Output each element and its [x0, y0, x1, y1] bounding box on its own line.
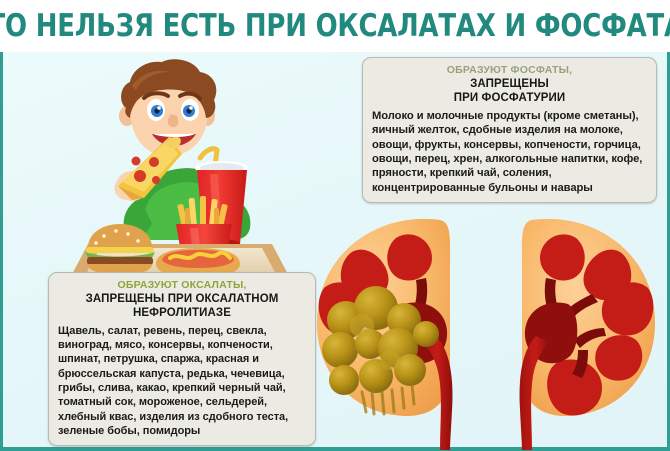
oxalate-info-box: ОБРАЗУЮТ ОКСАЛАТЫ, ЗАПРЕЩЕНЫ ПРИ ОКСАЛАТ…: [48, 272, 316, 446]
phosphate-food-list: Молоко и молочные продукты (кроме сметан…: [372, 109, 647, 196]
oxalate-eyebrow: ОБРАЗУЮТ ОКСАЛАТЫ,: [58, 279, 306, 292]
phosphate-info-box: ОБРАЗУЮТ ФОСФАТЫ, ЗАПРЕЩЕНЫ ПРИ ФОСФАТУР…: [362, 57, 657, 203]
page-title: ЧТО НЕЛЬЗЯ ЕСТЬ ПРИ ОКСАЛАТАХ И ФОСФАТАХ: [0, 11, 670, 42]
infographic-poster: ОБРАЗУЮТ ФОСФАТЫ, ЗАПРЕЩЕНЫ ПРИ ФОСФАТУР…: [0, 0, 670, 451]
phosphate-headline-line2: ПРИ ФОСФАТУРИИ: [454, 92, 566, 104]
oxalate-headline-line1: ЗАПРЕЩЕНЫ ПРИ ОКСАЛАТНОМ: [86, 293, 279, 305]
right-kidney-normal: [520, 219, 656, 450]
poster-title-bar: ЧТО НЕЛЬЗЯ ЕСТЬ ПРИ ОКСАЛАТАХ И ФОСФАТАХ: [0, 0, 670, 52]
phosphate-eyebrow: ОБРАЗУЮТ ФОСФАТЫ,: [372, 64, 647, 77]
oxalate-headline: ЗАПРЕЩЕНЫ ПРИ ОКСАЛАТНОМ НЕФРОЛИТИАЗЕ: [58, 293, 306, 321]
kidneys-illustration: [300, 208, 670, 451]
phosphate-headline-line1: ЗАПРЕЩЕНЫ: [470, 78, 549, 90]
oxalate-food-list: Щавель, салат, ревень, перец, свекла, ви…: [58, 324, 306, 438]
phosphate-headline: ЗАПРЕЩЕНЫ ПРИ ФОСФАТУРИИ: [372, 78, 647, 106]
oxalate-headline-line2: НЕФРОЛИТИАЗЕ: [133, 307, 231, 319]
left-kidney-with-stones: [317, 219, 453, 450]
boy-eating-fast-food-illustration: [52, 58, 322, 283]
